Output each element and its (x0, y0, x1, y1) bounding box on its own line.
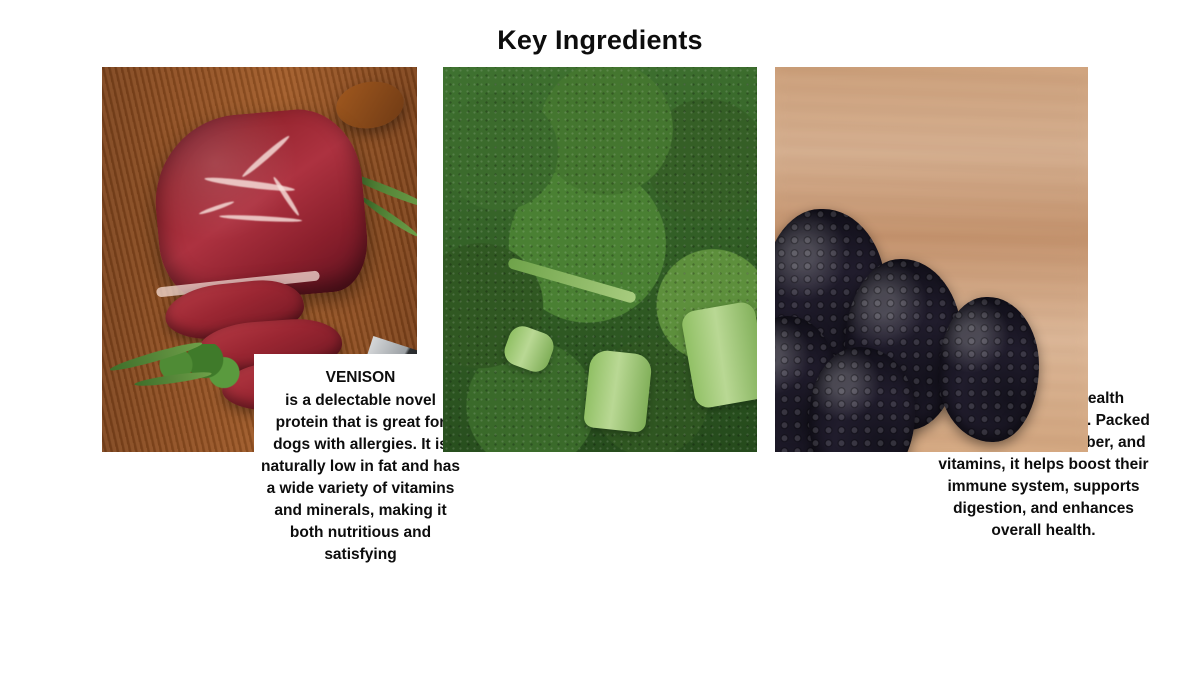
broccoli-stem-shape (584, 349, 654, 433)
venison-body-text: is a delectable novel protein that is gr… (260, 390, 461, 566)
drupelet-texture-overlay (939, 297, 1039, 442)
blackberries-pile-photo (775, 67, 1088, 452)
broccoli-florets-closeup-photo (443, 67, 757, 452)
meat-marbling-shape (219, 214, 302, 223)
slide-canvas: Key Ingredients VENISON (0, 0, 1200, 675)
blackberry-pile-group (775, 152, 1050, 452)
venison-heading: VENISON (260, 366, 461, 390)
blackberry-shape (939, 297, 1039, 442)
meat-marbling-shape (198, 200, 235, 216)
page-title: Key Ingredients (0, 24, 1200, 56)
venison-caption-box: VENISON is a delectable novel protein th… (254, 354, 467, 580)
meat-marbling-shape (240, 133, 291, 178)
meat-marbling-shape (271, 176, 300, 217)
